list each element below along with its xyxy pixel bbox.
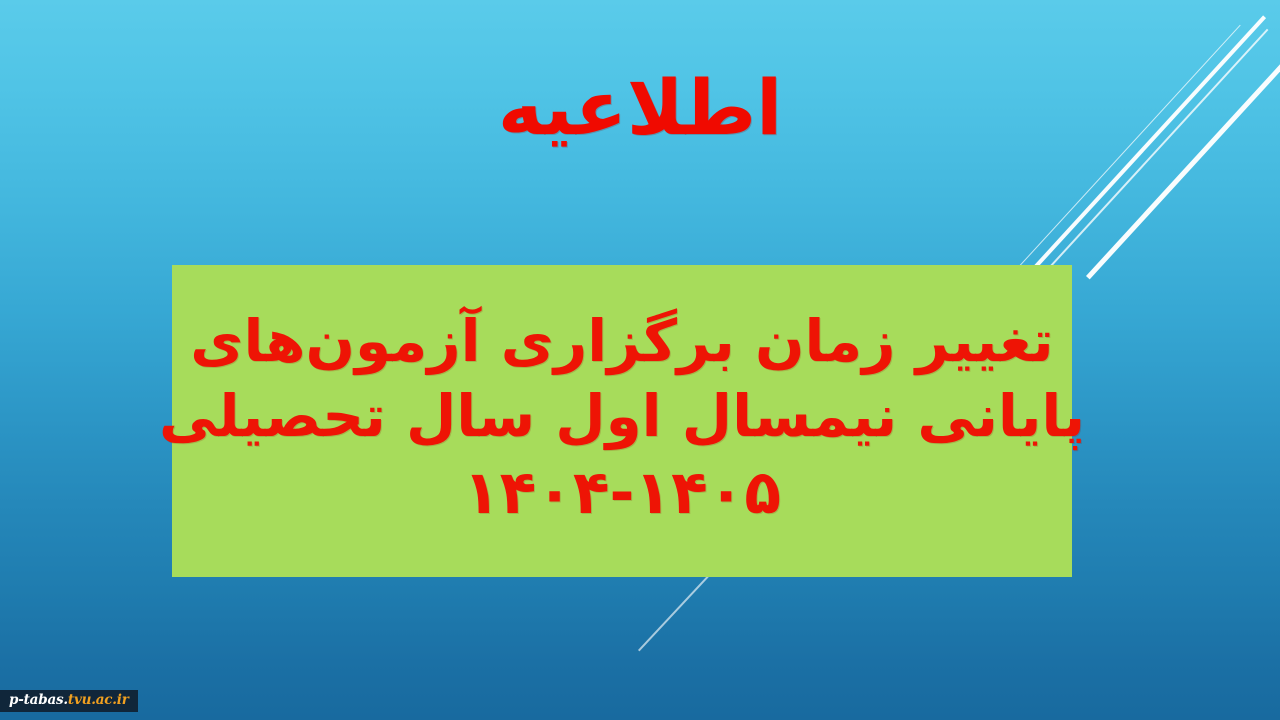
announcement-panel: تغییر زمان برگزاری آزمون‌های پایانی نیمس… [172, 265, 1072, 577]
announcement-line-2: پایانی نیمسال اول سال تحصیلی [159, 379, 1085, 454]
site-watermark: p-tabas.tvu.ac.ir [0, 690, 138, 712]
announcement-line-1: تغییر زمان برگزاری آزمون‌های [190, 304, 1053, 379]
announcement-academic-year: ۱۴۰۴-۱۴۰۵ [463, 454, 781, 532]
watermark-suffix: tvu.ac.ir [68, 692, 129, 708]
page-title: اطلاعیه [0, 64, 1280, 151]
watermark-prefix: p-tabas. [9, 692, 68, 708]
announcement-slide: اطلاعیه تغییر زمان برگزاری آزمون‌های پای… [0, 0, 1280, 720]
